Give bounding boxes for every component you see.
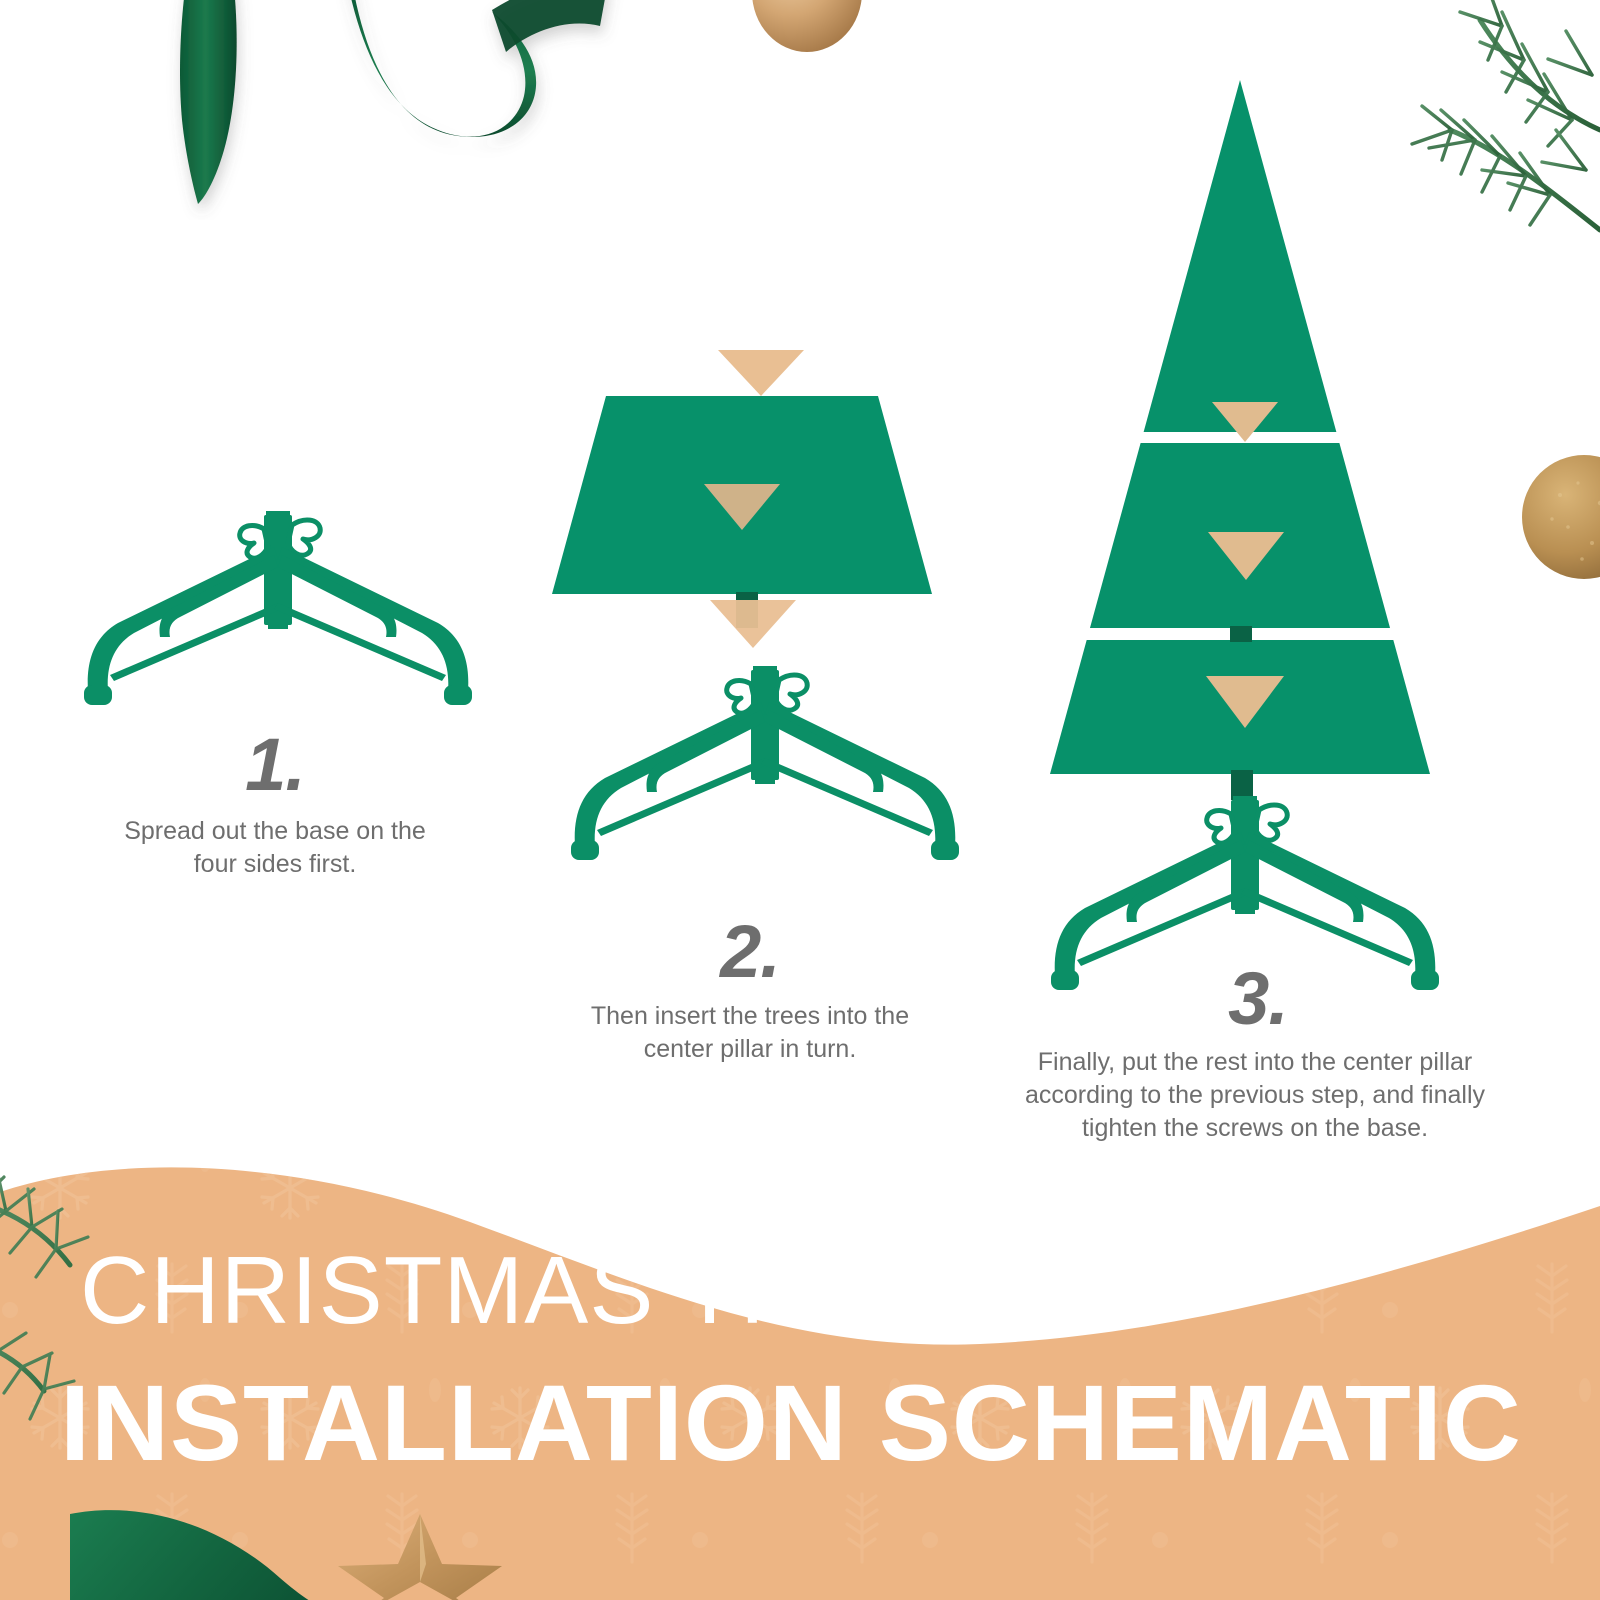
step-1-number: 1.: [175, 728, 375, 802]
insert-arrow-lower-icon: [710, 600, 796, 648]
step-1-caption-line-1: Spread out the base on the: [60, 815, 490, 848]
insert-arrow-top-icon: [718, 350, 804, 396]
tree-section-shape: [552, 396, 932, 596]
green-ribbon-top-left-icon: [120, 0, 820, 220]
step-2-caption-line-1: Then insert the trees into the: [530, 1000, 970, 1033]
step-2-number: 2.: [650, 915, 850, 989]
tree-stand-base-icon: [78, 495, 478, 710]
banner-title-line-1: CHRISTMAS TREE: [80, 1236, 940, 1346]
tree-stand-base-icon: [565, 650, 965, 865]
step-3-number: 3.: [1158, 962, 1358, 1036]
banner-title-line-2: INSTALLATION SCHEMATIC: [60, 1360, 1522, 1485]
gold-ornament-top-icon: [742, 0, 872, 64]
gold-glitter-ball-right-icon: [1512, 455, 1600, 585]
full-tree-shape: [1040, 80, 1440, 780]
step-1-caption-line-2: four sides first.: [60, 848, 490, 881]
step-2-caption-line-2: center pillar in turn.: [530, 1033, 970, 1066]
step-3-caption-line-1: Finally, put the rest into the center pi…: [1000, 1046, 1510, 1079]
step-3-caption-line-2: according to the previous step, and fina…: [1000, 1079, 1510, 1112]
infographic-canvas: 1. Spread out the base on the four sides…: [0, 0, 1600, 1600]
